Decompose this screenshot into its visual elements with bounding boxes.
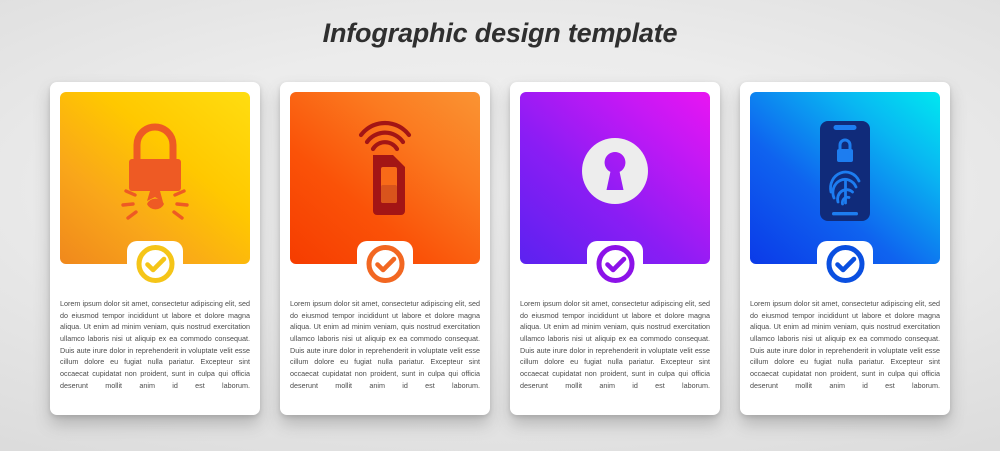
check-circle-icon <box>364 243 406 285</box>
infographic-card-1[interactable]: Lorem ipsum dolor sit amet, consectetur … <box>50 82 260 415</box>
card-1-check-badge[interactable] <box>133 241 178 286</box>
card-3-tile <box>520 92 710 264</box>
infographic-card-row: Lorem ipsum dolor sit amet, consectetur … <box>50 82 950 415</box>
check-circle-icon <box>824 243 866 285</box>
infographic-card-4[interactable]: Lorem ipsum dolor sit amet, consectetur … <box>740 82 950 415</box>
broken-padlock-icon <box>117 123 193 219</box>
smartphone-fingerprint-lock-icon <box>814 119 876 223</box>
keyhole-icon <box>572 128 658 214</box>
card-2-description: Lorem ipsum dolor sit amet, consectetur … <box>290 298 480 403</box>
check-circle-icon <box>134 243 176 285</box>
card-3-icon-area <box>520 92 710 264</box>
card-4-tile <box>750 92 940 264</box>
check-circle-icon <box>594 243 636 285</box>
card-2-check-badge[interactable] <box>363 241 408 286</box>
card-1-description: Lorem ipsum dolor sit amet, consectetur … <box>60 298 250 403</box>
rfid-card-reader-icon <box>349 125 421 217</box>
card-4-icon-area <box>750 92 940 264</box>
infographic-card-3[interactable]: Lorem ipsum dolor sit amet, consectetur … <box>510 82 720 415</box>
card-2-tile <box>290 92 480 264</box>
card-1-tile <box>60 92 250 264</box>
card-3-description: Lorem ipsum dolor sit amet, consectetur … <box>520 298 710 403</box>
card-2-icon-area <box>290 92 480 264</box>
card-4-check-badge[interactable] <box>823 241 868 286</box>
card-1-icon-area <box>60 92 250 264</box>
card-4-description: Lorem ipsum dolor sit amet, consectetur … <box>750 298 940 403</box>
card-3-check-badge[interactable] <box>593 241 638 286</box>
infographic-card-2[interactable]: Lorem ipsum dolor sit amet, consectetur … <box>280 82 490 415</box>
page-title: Infographic design template <box>0 18 1000 49</box>
